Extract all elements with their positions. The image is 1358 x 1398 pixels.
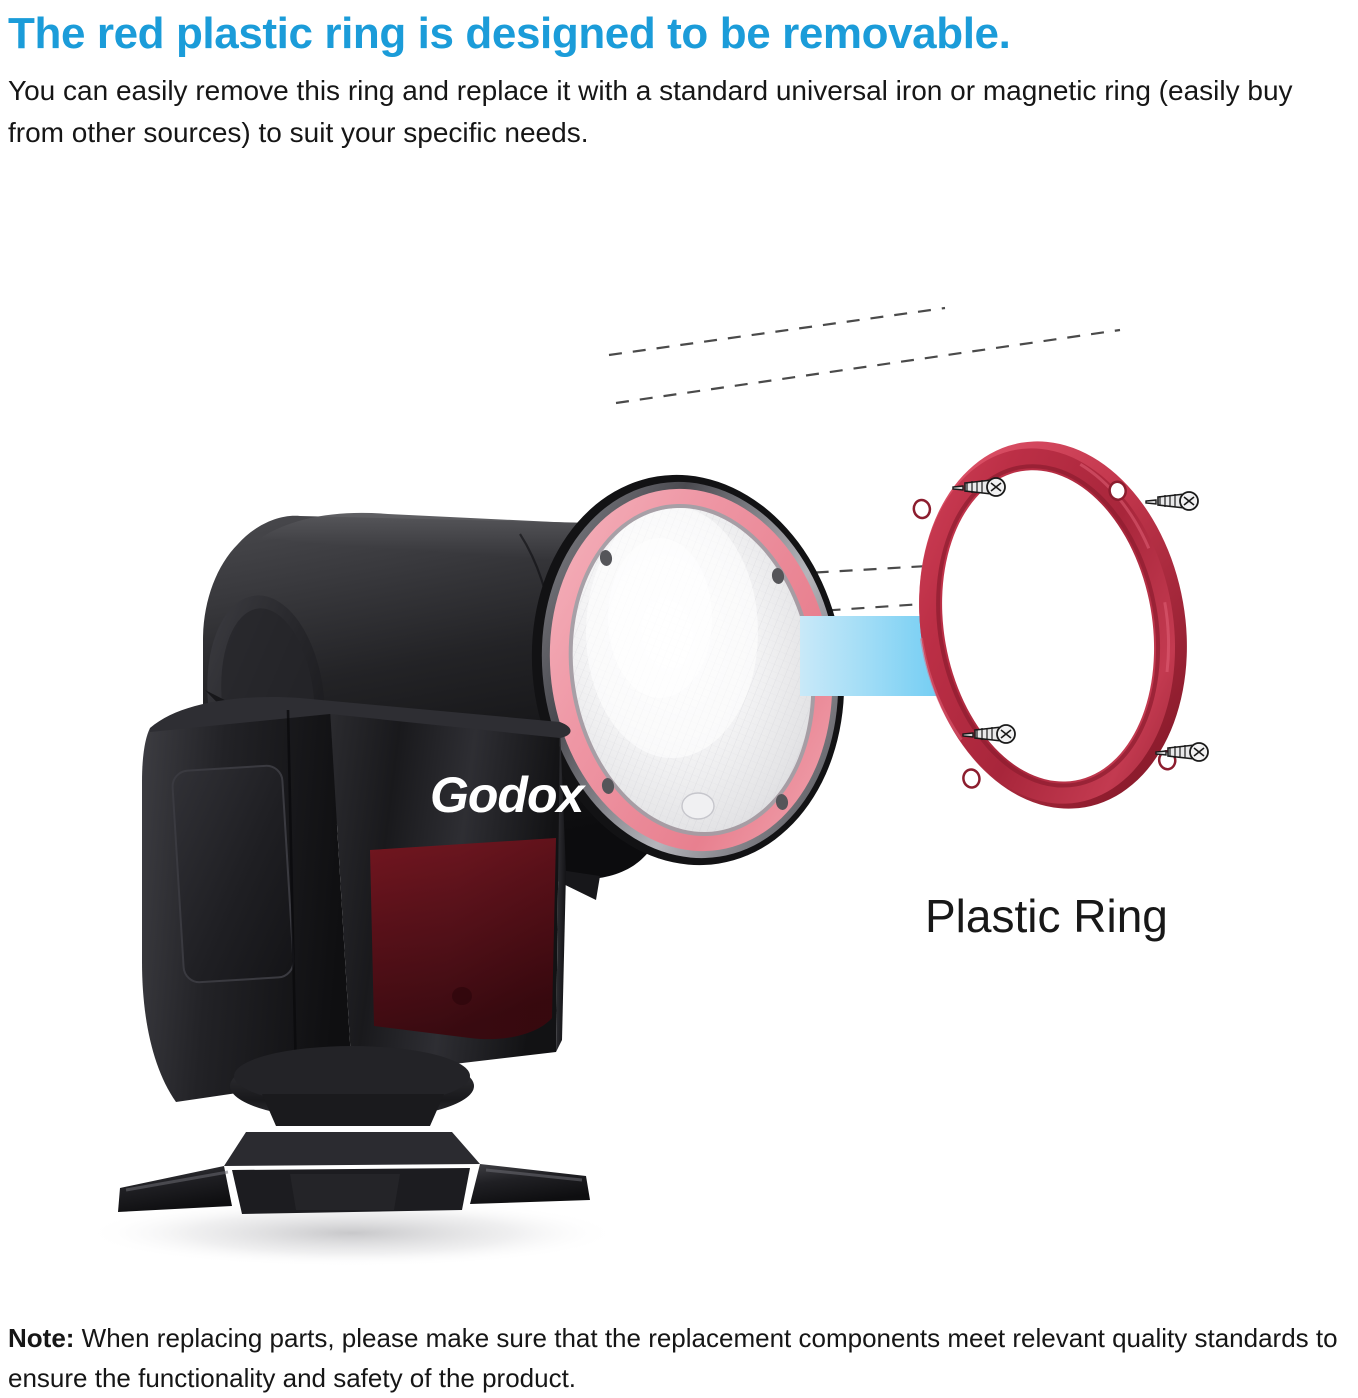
godox-logo: Godox bbox=[430, 767, 587, 823]
header-text-block: The red plastic ring is designed to be r… bbox=[8, 0, 1354, 154]
page-description: You can easily remove this ring and repl… bbox=[8, 70, 1354, 154]
illustration-canvas: Godox bbox=[0, 170, 1358, 1300]
guide-line-top-inner bbox=[616, 330, 1120, 403]
note-label: Note: bbox=[8, 1323, 74, 1353]
screw-2 bbox=[1146, 492, 1198, 510]
note-text: When replacing parts, please make sure t… bbox=[8, 1323, 1338, 1393]
mini-stand-foot bbox=[118, 1132, 590, 1214]
flash-body: Godox bbox=[118, 690, 600, 1214]
guide-line-top-outer bbox=[609, 308, 945, 355]
page-title: The red plastic ring is designed to be r… bbox=[8, 0, 1354, 64]
screw-hole-detached-1 bbox=[912, 499, 931, 520]
screw-hole-detached-3 bbox=[962, 768, 981, 789]
af-window-reflection bbox=[452, 987, 472, 1005]
lens-bulb bbox=[682, 793, 714, 819]
swivel-collar-neck bbox=[262, 1094, 444, 1126]
plastic-ring-caption: Plastic Ring bbox=[925, 888, 1168, 944]
foot-center-post bbox=[290, 1174, 400, 1210]
product-illustration: Godox Plastic Ring bbox=[0, 170, 1358, 1300]
footer-note: Note: When replacing parts, please make … bbox=[8, 1318, 1348, 1398]
detached-plastic-ring bbox=[891, 420, 1215, 830]
foot-rear-arm bbox=[224, 1132, 480, 1166]
af-assist-window bbox=[370, 838, 556, 1039]
battery-door-panel bbox=[172, 765, 295, 983]
